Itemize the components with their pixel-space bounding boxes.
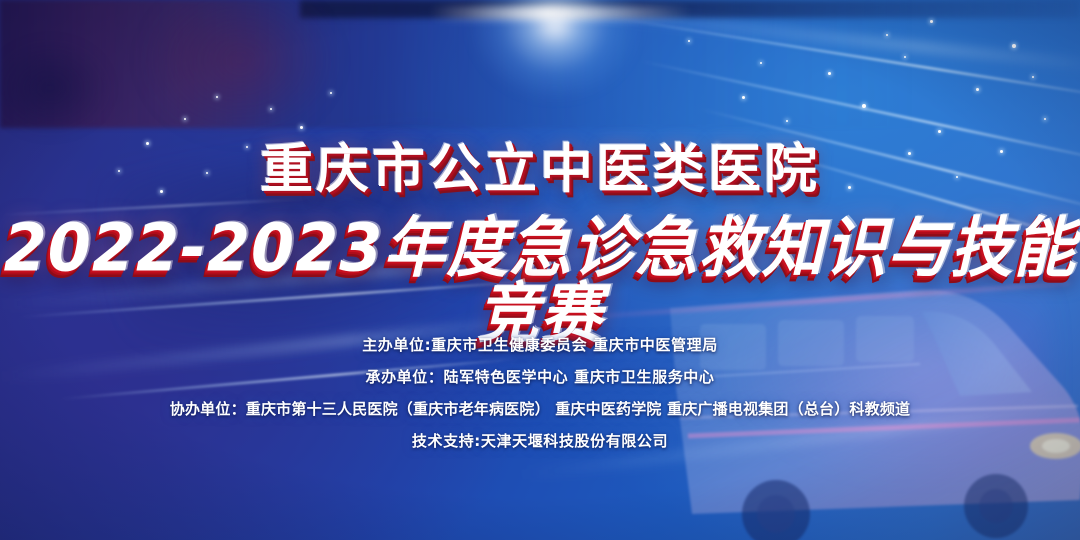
- credit-line-organizer: 主办单位:重庆市卫生健康委员会 重庆市中医管理局: [0, 338, 1080, 353]
- credit-line-tech-support: 技术支持:天津天堰科技股份有限公司: [0, 434, 1080, 449]
- credit-line-host: 承办单位：陆军特色医学中心 重庆市卫生服务中心: [0, 370, 1080, 385]
- credits-block: 主办单位:重庆市卫生健康委员会 重庆市中医管理局 承办单位：陆军特色医学中心 重…: [0, 338, 1080, 466]
- poster-title-sub: 2022-2023年度急诊急救知识与技能竞赛: [0, 215, 1080, 346]
- event-poster: 重庆市公立中医类医院 2022-2023年度急诊急救知识与技能竞赛 主办单位:重…: [0, 0, 1080, 540]
- poster-title-main: 重庆市公立中医类医院: [0, 143, 1080, 196]
- credit-line-co-host: 协办单位：重庆市第十三人民医院（重庆市老年病医院） 重庆中医药学院 重庆广播电视…: [0, 402, 1080, 417]
- poster-content: 重庆市公立中医类医院 2022-2023年度急诊急救知识与技能竞赛 主办单位:重…: [0, 0, 1080, 540]
